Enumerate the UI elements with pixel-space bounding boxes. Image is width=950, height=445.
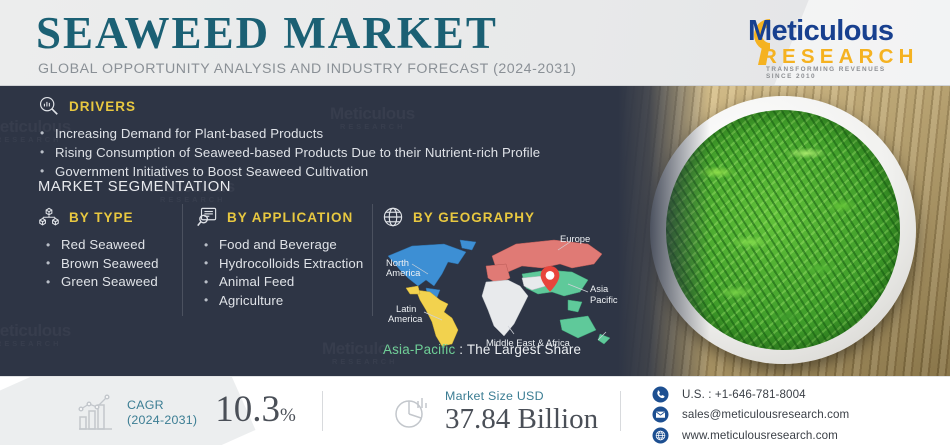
- contact-website-text: www.meticulousresearch.com: [682, 429, 838, 442]
- pie-chart-icon: [392, 392, 434, 432]
- cagr-unit: %: [280, 405, 296, 426]
- list-item: Brown Seaweed: [44, 255, 188, 274]
- content-area: DRIVERS Increasing Demand for Plant-base…: [0, 86, 950, 376]
- segment-by-type: BY TYPE Red Seaweed Brown Seaweed Green …: [38, 206, 188, 292]
- phone-icon: [652, 386, 669, 403]
- cagr-label-line1: CAGR: [127, 398, 197, 413]
- magnifier-chart-icon: [38, 95, 60, 117]
- geography-note-rest: : The Largest Share: [455, 342, 581, 357]
- email-icon: [652, 406, 669, 423]
- segment-by-application: BY APPLICATION Food and Beverage Hydroco…: [196, 206, 374, 310]
- map-label-latin-america-2: America: [388, 313, 423, 324]
- market-size-value: 37.84 Billion: [445, 404, 598, 435]
- by-geography-heading: BY GEOGRAPHY: [413, 210, 535, 225]
- map-label-asia-pacific-2: Pacific: [590, 294, 618, 305]
- list-item: Green Seaweed: [44, 273, 188, 292]
- by-geography-header: BY GEOGRAPHY: [382, 206, 632, 228]
- contact-row-email[interactable]: sales@meticulousresearch.com: [652, 406, 849, 424]
- by-type-heading: BY TYPE: [69, 210, 134, 225]
- geography-note: Asia-Pacific : The Largest Share: [383, 342, 581, 357]
- bar-chart-growth-icon: [74, 393, 116, 433]
- contact-phone-text: U.S. : +1-646-781-8004: [682, 388, 806, 401]
- page-subtitle: GLOBAL OPPORTUNITY ANALYSIS AND INDUSTRY…: [38, 61, 576, 77]
- drivers-heading: DRIVERS: [69, 99, 136, 114]
- market-size-text: Market Size USD 37.84 Billion: [445, 388, 598, 435]
- page-title: SEAWEED MARKET: [36, 8, 498, 58]
- logo-name: Meticulous: [748, 15, 893, 48]
- market-size-label: Market Size USD: [445, 388, 598, 404]
- by-application-list: Food and Beverage Hydrocolloids Extracti…: [202, 236, 374, 310]
- cagr-labels: CAGR (2024-2031): [127, 398, 197, 428]
- globe-icon: [652, 427, 669, 444]
- node-hierarchy-icon: [38, 206, 60, 228]
- list-item: Hydrocolloids Extraction: [202, 255, 374, 274]
- footer-bar: CAGR (2024-2031) 10.3% Market Size USD 3…: [0, 376, 950, 445]
- by-application-heading: BY APPLICATION: [227, 210, 353, 225]
- contact-block: U.S. : +1-646-781-8004 sales@meticulousr…: [652, 385, 849, 445]
- logo-tagline: TRANSFORMING REVENUES SINCE 2010: [766, 66, 908, 80]
- map-label-europe: Europe: [560, 233, 590, 244]
- list-item: Food and Beverage: [202, 236, 374, 255]
- list-item: Increasing Demand for Plant-based Produc…: [38, 124, 540, 143]
- drivers-list: Increasing Demand for Plant-based Produc…: [38, 124, 540, 181]
- market-size-stat: Market Size USD 37.84 Billion: [392, 388, 598, 435]
- contact-row-phone[interactable]: U.S. : +1-646-781-8004: [652, 385, 849, 403]
- by-type-header: BY TYPE: [38, 206, 188, 228]
- map-label-north-america-2: America: [386, 267, 421, 278]
- map-region-middle-east-africa: [482, 276, 546, 336]
- document-magnifier-icon: [196, 206, 218, 228]
- list-item: Animal Feed: [202, 273, 374, 292]
- infographic-page: MeticulousRESEARCH MeticulousRESEARCH Me…: [0, 0, 950, 445]
- geography-note-highlight: Asia-Pacific: [383, 342, 455, 357]
- by-application-header: BY APPLICATION: [196, 206, 374, 228]
- brand-logo[interactable]: Meticulous RESEARCH TRANSFORMING REVENUE…: [726, 9, 908, 75]
- contact-row-website[interactable]: www.meticulousresearch.com: [652, 426, 849, 444]
- footer-divider: [620, 391, 621, 431]
- cagr-value-wrap: 10.3%: [215, 390, 296, 436]
- contact-email-text: sales@meticulousresearch.com: [682, 408, 849, 421]
- list-item: Agriculture: [202, 292, 374, 311]
- cagr-label-line2: (2024-2031): [127, 413, 197, 428]
- header-bar: SEAWEED MARKET GLOBAL OPPORTUNITY ANALYS…: [0, 0, 950, 86]
- cagr-stat: CAGR (2024-2031) 10.3%: [74, 390, 296, 436]
- world-map: North America Latin America Europe Asia …: [382, 230, 632, 352]
- cagr-value: 10.3: [215, 389, 280, 430]
- by-type-list: Red Seaweed Brown Seaweed Green Seaweed: [44, 236, 188, 292]
- segment-by-geography: BY GEOGRAPHY: [382, 206, 632, 228]
- drivers-section: DRIVERS Increasing Demand for Plant-base…: [38, 95, 540, 181]
- globe-icon: [382, 206, 404, 228]
- market-segmentation-label: MARKET SEGMENTATION: [38, 179, 231, 195]
- drivers-header: DRIVERS: [38, 95, 540, 117]
- list-item: Rising Consumption of Seaweed-based Prod…: [38, 143, 540, 162]
- list-item: Red Seaweed: [44, 236, 188, 255]
- map-label-asia-pacific: Asia: [590, 283, 609, 294]
- footer-divider: [322, 391, 323, 431]
